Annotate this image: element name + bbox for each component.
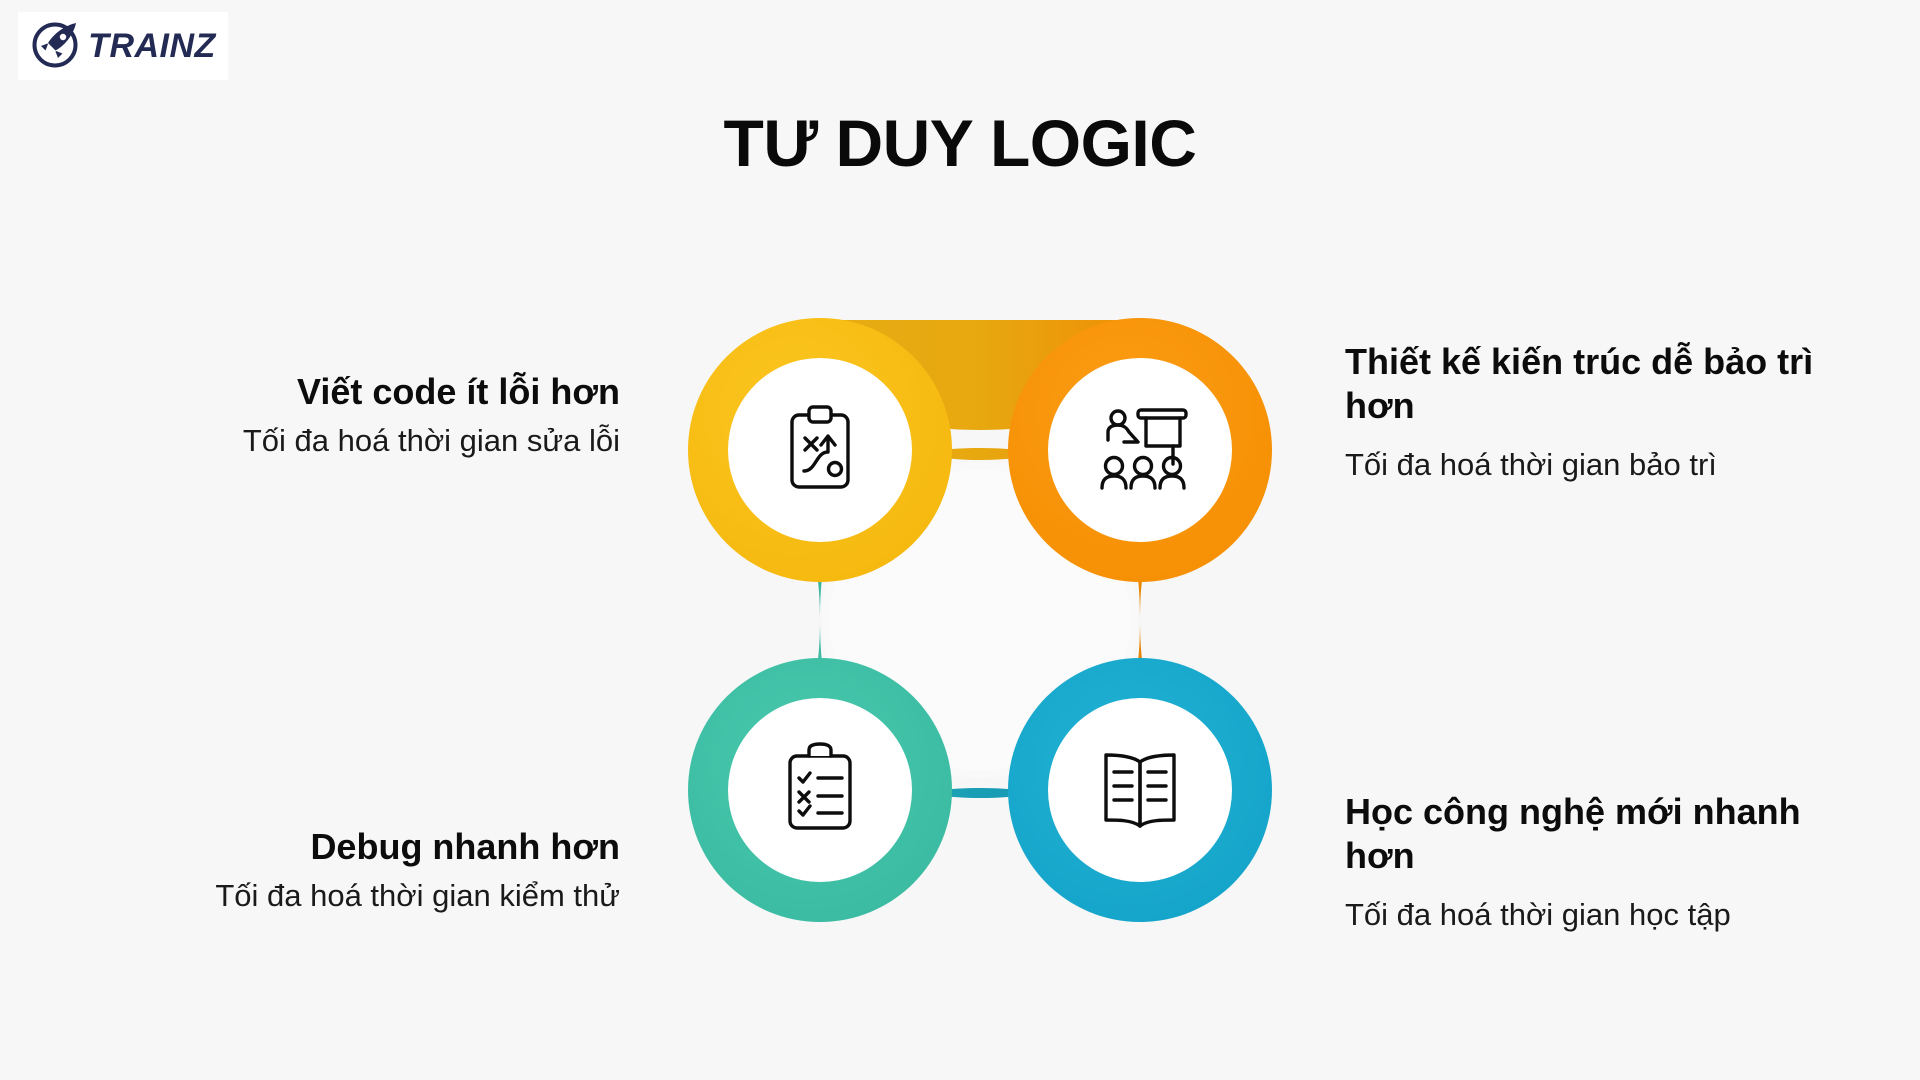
label-top-right-heading: Thiết kế kiến trúc dễ bảo trì hơn [1345,340,1825,428]
brand-logo: TRAINZ [18,12,228,80]
node-top-left [688,318,952,582]
label-top-left: Viết code ít lỗi hơn Tối đa hoá thời gia… [150,370,620,461]
label-bottom-right: Học công nghệ mới nhanh hơn Tối đa hoá t… [1345,790,1825,935]
rocket-in-circle-icon [30,17,84,76]
node-bottom-right [1008,658,1272,922]
node-disc-top-right [1048,358,1232,542]
label-bottom-left-heading: Debug nhanh hơn [150,825,620,869]
label-bottom-left-subtitle: Tối đa hoá thời gian kiểm thử [150,875,620,916]
node-disc-bottom-left [728,698,912,882]
node-top-right [1008,318,1272,582]
node-bottom-left [688,658,952,922]
page-title: TƯ DUY LOGIC [0,110,1920,176]
node-disc-top-left [728,358,912,542]
label-bottom-left: Debug nhanh hơn Tối đa hoá thời gian kiể… [150,825,620,916]
label-top-right-subtitle: Tối đa hoá thời gian bảo trì [1345,444,1825,485]
label-top-right: Thiết kế kiến trúc dễ bảo trì hơn Tối đa… [1345,340,1825,485]
label-bottom-right-subtitle: Tối đa hoá thời gian học tập [1345,894,1825,935]
label-top-left-subtitle: Tối đa hoá thời gian sửa lỗi [150,420,620,461]
label-top-left-heading: Viết code ít lỗi hơn [150,370,620,414]
cycle-diagram [660,300,1300,940]
brand-name: TRAINZ [88,29,216,63]
label-bottom-right-heading: Học công nghệ mới nhanh hơn [1345,790,1825,878]
